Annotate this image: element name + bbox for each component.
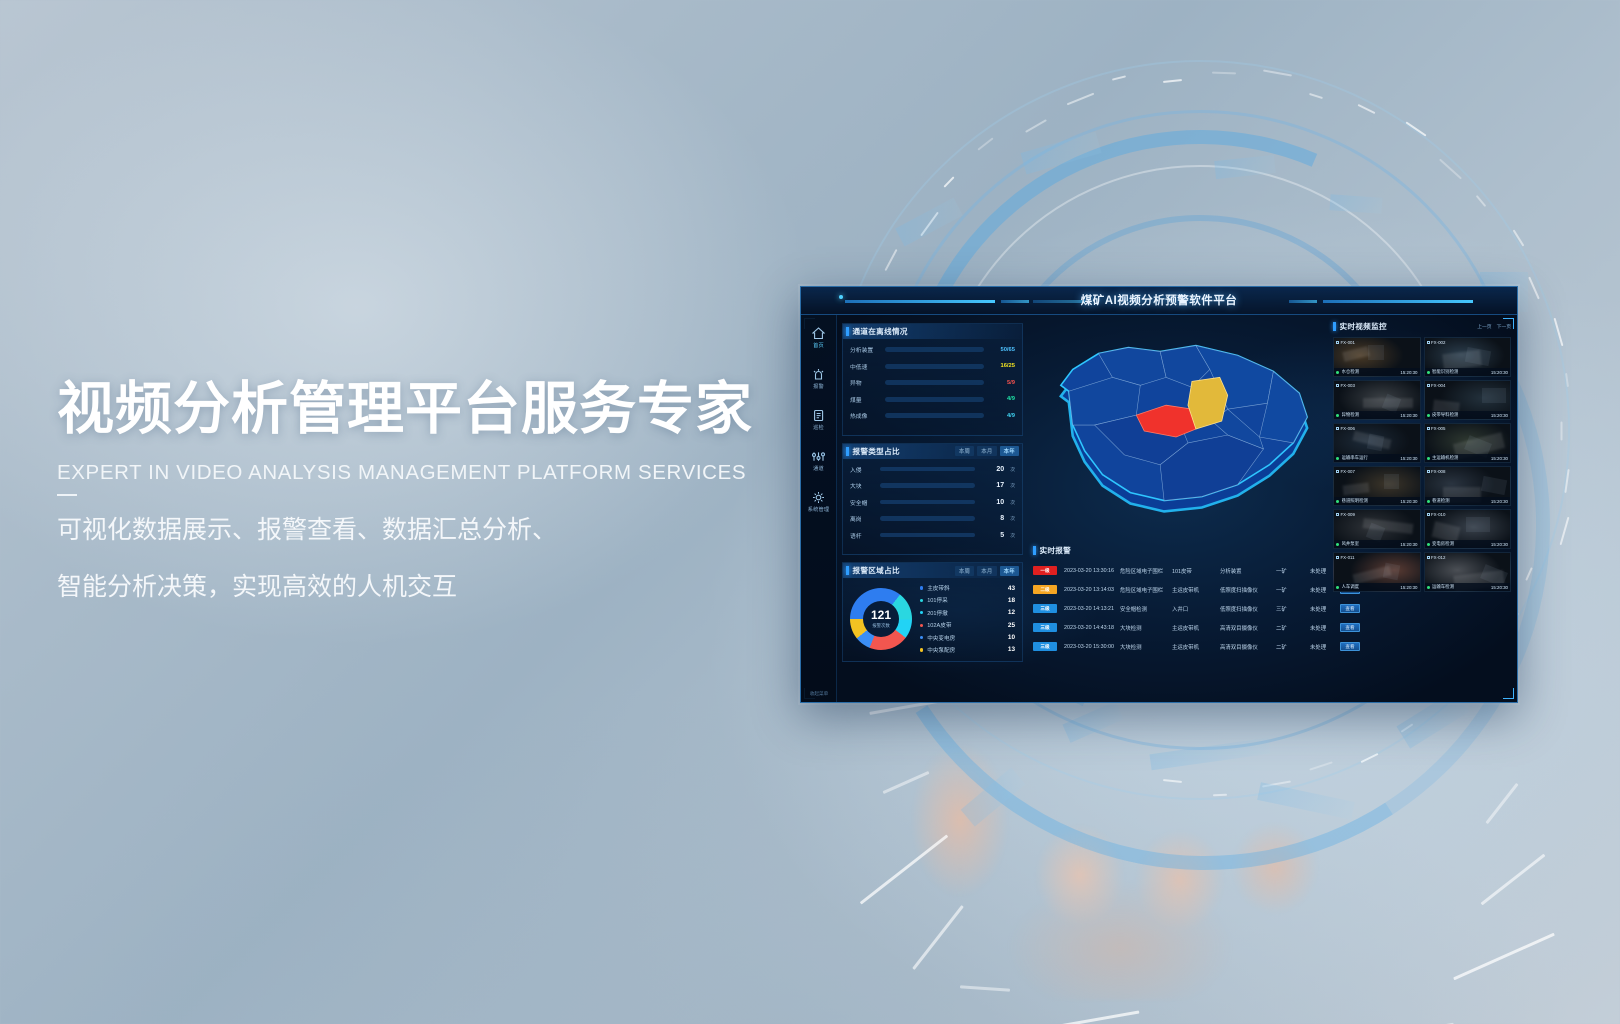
alarm-type-unit: 次 [1010,499,1015,506]
status-badge: 二级 [1033,585,1057,594]
video-panel-title: 实时视频监控 [1340,321,1387,332]
view-button[interactable]: 查看 [1340,623,1360,632]
channel-row-label: 异物 [850,378,880,387]
channel-row-label: 热成像 [850,411,880,420]
sidebar-collapse-label[interactable]: 收起菜单 [801,691,837,697]
alarm-type-track [880,467,975,472]
sidebar-item-inspection[interactable]: 巡检 [802,409,836,431]
alarm-mine: 二矿 [1276,643,1310,651]
online-dot [1336,371,1339,374]
video-noise [1384,474,1399,489]
status-badge: 三级 [1033,642,1057,651]
sidebar-item-home[interactable]: 首页 [802,327,836,349]
camera-icon [1336,470,1339,473]
video-tile-name: 运输串车运行 [1342,455,1368,461]
video-panel: 实时视频监控 上一页 下一页 FX-001水仓检测15:20:30FX-002智… [1333,321,1511,592]
dashboard-monitor: 煤矿AI视频分析预警软件平台 首页报警巡检通道系统管理 收起菜单 通道在离线情况… [800,286,1518,703]
video-noise [1342,482,1369,495]
sidebar-item-label: 通道 [813,465,824,472]
channel-row-label: 分析装置 [850,345,880,354]
online-dot [1336,457,1339,460]
video-tile[interactable]: FX-012运输车检测15:20:30 [1424,552,1512,592]
legend-color-dot [920,624,923,627]
camera-id: FX-011 [1336,555,1355,560]
alarm-position: 主运皮带机 [1172,586,1220,594]
channel-status-title-row: 通道在离线情况 [846,326,1019,337]
video-tile-name: 智能识别检测 [1432,369,1458,375]
alarm-device: 低照度扫描像仪 [1220,605,1276,613]
alarm-type-value: 17 [980,482,1004,489]
title-accent-bar [846,447,849,456]
alarm-area-title: 报警区域占比 [853,565,900,576]
status-badge: 三级 [1033,604,1057,613]
alarm-area-range-tabs[interactable]: 本周本月本年 [955,566,1019,576]
hero-description-line1: 可视化数据展示、报警查看、数据汇总分析、 [57,507,817,553]
status-badge: 三级 [1033,623,1057,632]
sidebar-item-label: 巡检 [813,424,824,431]
alarm-type-tab[interactable]: 本年 [1000,446,1019,456]
alarm-area-donut: 121 报警次数 [850,588,912,650]
camera-id: FX-012 [1427,555,1446,560]
camera-id: FX-010 [1427,512,1446,517]
channel-status-card: 通道在离线情况 分析装置50/65中低速16/25异物5/9煤量4/9热成像4/… [842,323,1023,436]
video-tile-footer: 巷道照明检测15:20:30 [1334,497,1420,505]
alarm-area-legend: 主皮带斜43101停采18201停撤12102A皮带25中央变电房10中央泵配房… [920,584,1015,654]
legend-name: 102A皮带 [927,621,1004,629]
legend-value: 43 [1008,585,1015,592]
channel-status-row: 煤量4/9 [850,395,1015,404]
online-dot [1427,543,1430,546]
province-map[interactable] [1033,325,1331,540]
video-tile-footer: 运输车检测15:20:30 [1425,583,1511,591]
video-tile-name: 异物检测 [1342,412,1360,418]
camera-icon [1427,427,1430,430]
camera-icon [1336,384,1339,387]
video-tile-name: 皮带导料检测 [1432,412,1458,418]
sidebar-item-label: 报警 [813,383,824,390]
legend-color-dot [920,599,923,602]
alarm-area-legend-item: 主皮带斜43 [920,584,1015,592]
camera-id: FX-008 [1427,469,1446,474]
video-prev-page[interactable]: 上一页 [1477,323,1491,330]
video-noise [1466,517,1490,532]
alarm-type-track [880,500,975,505]
alarm-device: 低照度扫描像仪 [1220,586,1276,594]
camera-id: FX-009 [1336,512,1355,517]
video-tile[interactable]: FX-005主运输机检测15:20:30 [1424,423,1512,463]
alarm-area-chart-wrap: 121 报警次数 主皮带斜43101停采18201停撤12102A皮带25中央变… [850,584,1015,654]
alarm-device: 分析装置 [1220,567,1276,575]
view-button[interactable]: 查看 [1340,642,1360,651]
alarm-type: 危险区域电子围栏 [1120,586,1172,594]
online-dot [1427,371,1430,374]
video-tile-footer: 主运输机检测15:20:30 [1425,454,1511,462]
sidebar-item-gear[interactable]: 系统管理 [802,491,836,513]
inspection-icon [812,409,825,422]
alarm-area-legend-item: 101停采18 [920,596,1015,604]
alarm-type-row: 离岗8次 [850,514,1015,523]
video-tile-time: 15:20:30 [1400,542,1417,547]
video-tile[interactable]: FX-009风井泵室15:20:30 [1333,509,1421,549]
video-tile-name: 主运输机检测 [1432,455,1458,461]
dashboard-title: 煤矿AI视频分析预警软件平台 [1081,292,1238,308]
alarm-type-row: 语杆5次 [850,531,1015,540]
alarm-type-tab[interactable]: 本周 [955,446,974,456]
alarm-type-value: 5 [980,532,1004,539]
video-panel-header: 实时视频监控 上一页 下一页 [1333,321,1511,332]
hero-block: 视频分析管理平台服务专家 EXPERT IN VIDEO ANALYSIS MA… [57,378,817,610]
alarm-area-legend-item: 中央泵配房13 [920,646,1015,654]
table-row: 三级2023-03-20 14:13:21安全帽检测入井口低照度扫描像仪三矿未处… [1033,599,1433,618]
alarm-type-row: 入侵20次 [850,465,1015,474]
channel-row-label: 煤量 [850,395,880,404]
channel-status-row: 异物5/9 [850,378,1015,387]
video-pager[interactable]: 上一页 下一页 [1477,323,1511,330]
camera-id: FX-002 [1427,340,1446,345]
title-accent-bar [846,327,849,336]
video-tile-time: 15:20:30 [1491,585,1508,590]
hero-divider [57,494,77,496]
video-tile-name: 人车调度 [1342,584,1360,590]
video-tile-time: 15:20:30 [1491,542,1508,547]
video-panel-title-row: 实时视频监控 [1333,321,1387,332]
camera-icon [1336,513,1339,516]
alarm-area-legend-item: 中央变电房10 [920,634,1015,642]
alarm-position: 101皮带 [1172,567,1220,575]
alarm-status: 未处理 [1310,605,1340,613]
alarm-type-unit: 次 [1010,482,1015,489]
sidebar-item-channel[interactable]: 通道 [802,450,836,472]
alarm-type-unit: 次 [1010,466,1015,473]
alarm-type: 大块检测 [1120,643,1172,651]
alarm-time: 2023-03-20 13:30:16 [1064,568,1120,574]
camera-icon [1336,556,1339,559]
channel-row-value: 4/9 [989,413,1015,419]
table-row: 三级2023-03-20 14:43:18大块检测主运皮带机高清双目摄像仪二矿未… [1033,618,1433,637]
video-grid: FX-001水仓检测15:20:30FX-002智能识别检测15:20:30FX… [1333,337,1511,592]
channel-status-row: 中低速16/25 [850,362,1015,371]
camera-id: FX-007 [1336,469,1355,474]
channel-status-row: 分析装置50/65 [850,345,1015,354]
video-tile-time: 15:20:30 [1400,370,1417,375]
video-tile-footer: 水仓检测15:20:30 [1334,368,1420,376]
alarm-icon [812,368,825,381]
alarm-type-label: 安全帽 [850,498,875,507]
channel-row-value: 50/65 [989,347,1015,353]
alarm-mine: 一矿 [1276,586,1310,594]
alarm-type-track [880,516,975,521]
alarm-type: 危险区域电子围栏 [1120,567,1172,575]
channel-row-track [885,413,984,418]
video-tile-footer: 巷道检测15:20:30 [1425,497,1511,505]
corner-bottom-right [1503,688,1514,699]
video-tile-time: 15:20:30 [1491,499,1508,504]
alarm-mine: 三矿 [1276,605,1310,613]
video-tile-time: 15:20:30 [1491,456,1508,461]
alarm-area-tab[interactable]: 本周 [955,566,974,576]
camera-icon [1427,556,1430,559]
channel-row-value: 16/25 [989,363,1015,369]
legend-color-dot [920,611,923,614]
video-tile-time: 15:20:30 [1491,413,1508,418]
hero-subtitle-en: EXPERT IN VIDEO ANALYSIS MANAGEMENT PLAT… [57,461,817,485]
video-tile[interactable]: FX-011人车调度15:20:30 [1333,552,1421,592]
channel-status-rows: 分析装置50/65中低速16/25异物5/9煤量4/9热成像4/9 [850,345,1015,420]
alarm-device: 高清双目摄像仪 [1220,643,1276,651]
alarm-type-card: 报警类型占比 本周本月本年 入侵20次大块17次安全帽10次离岗8次语杆5次 [842,443,1023,556]
video-tile-footer: 智能识别检测15:20:30 [1425,368,1511,376]
alarm-status: 未处理 [1310,643,1340,651]
alarm-type-unit: 次 [1010,515,1015,522]
legend-color-dot [920,648,923,651]
donut-center: 121 报警次数 [863,601,899,637]
online-dot [1336,543,1339,546]
camera-icon [1427,341,1430,344]
camera-icon [1336,341,1339,344]
video-tile[interactable]: FX-007巷道照明检测15:20:30 [1333,466,1421,506]
channel-row-label: 中低速 [850,362,880,371]
channel-row-track [885,380,984,385]
title-accent-bar [1033,546,1036,555]
donut-center-value: 121 [871,609,891,621]
alarm-position: 入井口 [1172,605,1220,613]
video-noise [1367,434,1385,452]
alarm-type-value: 20 [980,466,1004,473]
alarm-type-row: 安全帽10次 [850,498,1015,507]
header-dot [839,295,843,299]
video-tile[interactable]: FX-008巷道检测15:20:30 [1424,466,1512,506]
video-tile-name: 巷道照明检测 [1342,498,1368,504]
channel-status-title: 通道在离线情况 [853,326,908,337]
sidebar-item-label: 首页 [813,342,824,349]
channel-row-track [885,364,984,369]
video-next-page[interactable]: 下一页 [1497,323,1511,330]
video-tile[interactable]: FX-002智能识别检测15:20:30 [1424,337,1512,377]
online-dot [1336,414,1339,417]
alarm-device: 高清双目摄像仪 [1220,624,1276,632]
alarm-type-label: 离岗 [850,514,875,523]
legend-color-dot [920,586,923,589]
video-tile-footer: 运输串车运行15:20:30 [1334,454,1420,462]
video-tile-footer: 人车调度15:20:30 [1334,583,1420,591]
channel-row-track [885,397,984,402]
legend-value: 13 [1008,646,1015,653]
camera-id: FX-006 [1336,426,1355,431]
province-map-svg [1033,325,1331,540]
video-tile-time: 15:20:30 [1400,499,1417,504]
status-badge: 一级 [1033,566,1057,575]
video-tile[interactable]: FX-004皮带导料检测15:20:30 [1424,380,1512,420]
alarm-type-track [880,483,975,488]
channel-icon [812,450,825,463]
alarm-type-label: 大块 [850,481,875,490]
legend-value: 18 [1008,597,1015,604]
alarm-area-header: 报警区域占比 本周本月本年 [843,563,1022,578]
alarm-type-title: 报警类型占比 [853,446,900,457]
alarm-area-card: 报警区域占比 本周本月本年 121 报警次数 主皮带斜43101停采18201停… [842,562,1023,662]
alarm-position: 主运皮带机 [1172,624,1220,632]
table-row: 三级2023-03-20 15:30:00大块检测主运皮带机高清双目摄像仪二矿未… [1033,637,1433,656]
title-accent-bar [846,566,849,575]
alarm-type-header: 报警类型占比 本周本月本年 [843,444,1022,459]
video-tile-time: 15:20:30 [1400,456,1417,461]
legend-name: 201停撤 [927,609,1004,617]
alarm-type-value: 10 [980,499,1004,506]
alarm-mine: 一矿 [1276,567,1310,575]
camera-id: FX-003 [1336,383,1355,388]
video-tile-time: 15:20:30 [1400,413,1417,418]
video-tile-footer: 风井泵室15:20:30 [1334,540,1420,548]
alarm-type-label: 入侵 [850,465,875,474]
alarm-mine: 二矿 [1276,624,1310,632]
decor-tick [1561,422,1563,441]
dashboard-header: 煤矿AI视频分析预警软件平台 [801,287,1517,315]
alarm-status: 未处理 [1310,624,1340,632]
channel-status-header: 通道在离线情况 [843,324,1022,339]
camera-id: FX-001 [1336,340,1355,345]
video-noise [1368,345,1383,360]
video-noise [1481,476,1507,495]
camera-icon [1336,427,1339,430]
sidebar-item-alarm[interactable]: 报警 [802,368,836,390]
video-tile-footer: 变电房检测15:20:30 [1425,540,1511,548]
alarm-type: 安全帽检测 [1120,605,1172,613]
legend-value: 12 [1008,609,1015,616]
video-noise [1342,346,1369,362]
channel-status-row: 热成像4/9 [850,411,1015,420]
legend-name: 101停采 [927,596,1004,604]
alarm-type-unit: 次 [1010,532,1015,539]
view-button[interactable]: 查看 [1340,604,1360,613]
donut-center-label: 报警次数 [872,623,890,629]
header-deco-right2 [1289,300,1317,303]
online-dot [1336,586,1339,589]
video-tile-name: 水仓检测 [1342,369,1360,375]
legend-value: 10 [1008,634,1015,641]
online-dot [1336,500,1339,503]
video-tile[interactable]: FX-003异物检测15:20:30 [1333,380,1421,420]
alarm-type: 大块检测 [1120,624,1172,632]
camera-icon [1427,513,1430,516]
page-title: 视频分析管理平台服务专家 [57,378,817,442]
alarm-type-track [880,533,975,538]
legend-name: 中央泵配房 [927,646,1004,654]
video-tile-name: 变电房检测 [1432,541,1454,547]
camera-icon [1427,470,1430,473]
legend-name: 中央变电房 [927,634,1004,642]
alarm-type-rows: 入侵20次大块17次安全帽10次离岗8次语杆5次 [850,465,1015,540]
alarm-area-legend-item: 102A皮带25 [920,621,1015,629]
alarm-type-value: 8 [980,515,1004,522]
channel-row-track [885,347,984,352]
video-noise [1382,563,1400,581]
header-deco-left3 [1033,300,1085,303]
alarm-area-legend-item: 201停撤12 [920,609,1015,617]
camera-id: FX-005 [1427,426,1446,431]
video-tile-time: 15:20:30 [1491,370,1508,375]
alarm-time: 2023-03-20 15:30:00 [1064,644,1120,650]
gear-icon [812,491,825,504]
video-tile-footer: 皮带导料检测15:20:30 [1425,411,1511,419]
legend-value: 25 [1008,622,1015,629]
header-deco-left2 [1001,300,1029,303]
header-deco-left [845,300,995,303]
alarm-type-range-tabs[interactable]: 本周本月本年 [955,446,1019,456]
video-tile-name: 风井泵室 [1342,541,1360,547]
title-accent-bar [1333,322,1336,331]
video-tile[interactable]: FX-006运输串车运行15:20:30 [1333,423,1421,463]
online-dot [1427,457,1430,460]
alarm-type-row: 大块17次 [850,481,1015,490]
alarm-area-title-row: 报警区域占比 本周本月本年 [846,565,1019,576]
video-tile-time: 15:20:30 [1400,585,1417,590]
video-tile-footer: 异物检测15:20:30 [1334,411,1420,419]
alarm-time: 2023-03-20 14:13:21 [1064,606,1120,612]
alarm-time: 2023-03-20 14:43:18 [1064,625,1120,631]
legend-color-dot [920,636,923,639]
channel-row-value: 4/9 [989,396,1015,402]
alarm-time: 2023-03-20 13:14:03 [1064,587,1120,593]
video-noise [1482,388,1506,403]
alarm-type-tab[interactable]: 本月 [977,446,996,456]
alarm-type-title-row: 报警类型占比 本周本月本年 [846,446,1019,457]
camera-id: FX-004 [1427,383,1446,388]
home-icon [812,327,825,340]
alarm-position: 主运皮带机 [1172,643,1220,651]
video-tile-name: 运输车检测 [1432,584,1454,590]
sidebar-item-label: 系统管理 [808,506,830,513]
dashboard-sidebar[interactable]: 首页报警巡检通道系统管理 [801,315,837,702]
online-dot [1427,586,1430,589]
video-tile-name: 巷道检测 [1432,498,1450,504]
video-tile[interactable]: FX-001水仓检测15:20:30 [1333,337,1421,377]
hero-description-line2: 智能分析决策，实现高效的人机交互 [57,564,817,610]
left-panel-column: 通道在离线情况 分析装置50/65中低速16/25异物5/9煤量4/9热成像4/… [842,323,1023,669]
alarm-type-label: 语杆 [850,531,875,540]
camera-icon [1427,384,1430,387]
alarm-area-tab[interactable]: 本月 [977,566,996,576]
online-dot [1427,500,1430,503]
map-highlight-yellow[interactable] [1188,377,1228,429]
video-tile[interactable]: FX-010变电房检测15:20:30 [1424,509,1512,549]
decor-tick [1213,794,1227,796]
realtime-alarm-title: 实时报警 [1040,545,1072,556]
alarm-area-tab[interactable]: 本年 [1000,566,1019,576]
channel-row-value: 5/9 [989,380,1015,386]
header-deco-right [1323,300,1473,303]
legend-name: 主皮带斜 [927,584,1004,592]
online-dot [1427,414,1430,417]
